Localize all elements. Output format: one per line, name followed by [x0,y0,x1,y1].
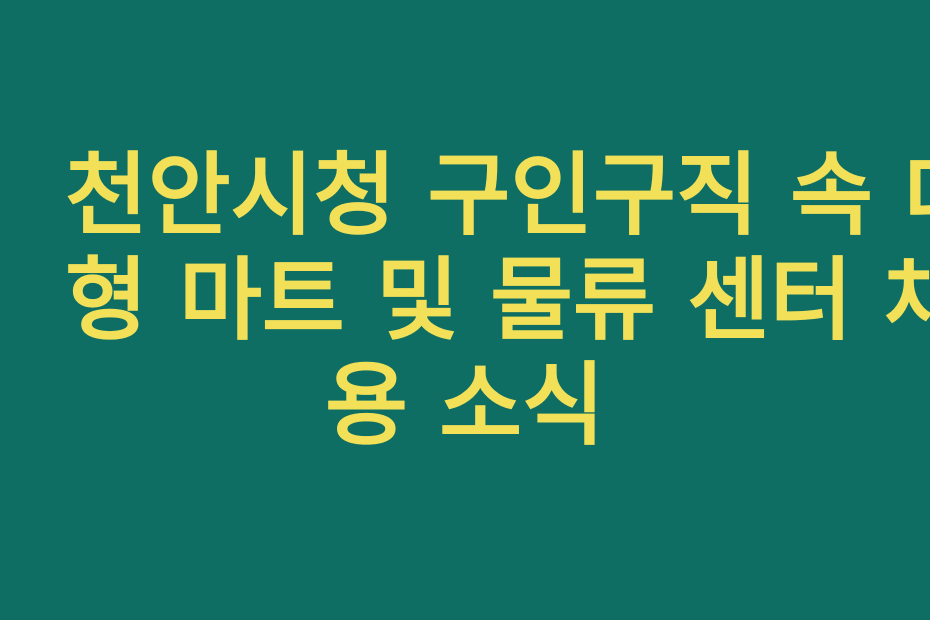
headline-line-3: 용 소식 [65,353,865,458]
banner-headline: 천안시청 구인구직 속 대 형 마트 및 물류 센터 채 용 소식 [65,143,865,458]
headline-line-1: 천안시청 구인구직 속 대 [65,143,865,248]
promo-banner: 천안시청 구인구직 속 대 형 마트 및 물류 센터 채 용 소식 [0,0,930,620]
headline-line-2: 형 마트 및 물류 센터 채 [65,248,865,353]
